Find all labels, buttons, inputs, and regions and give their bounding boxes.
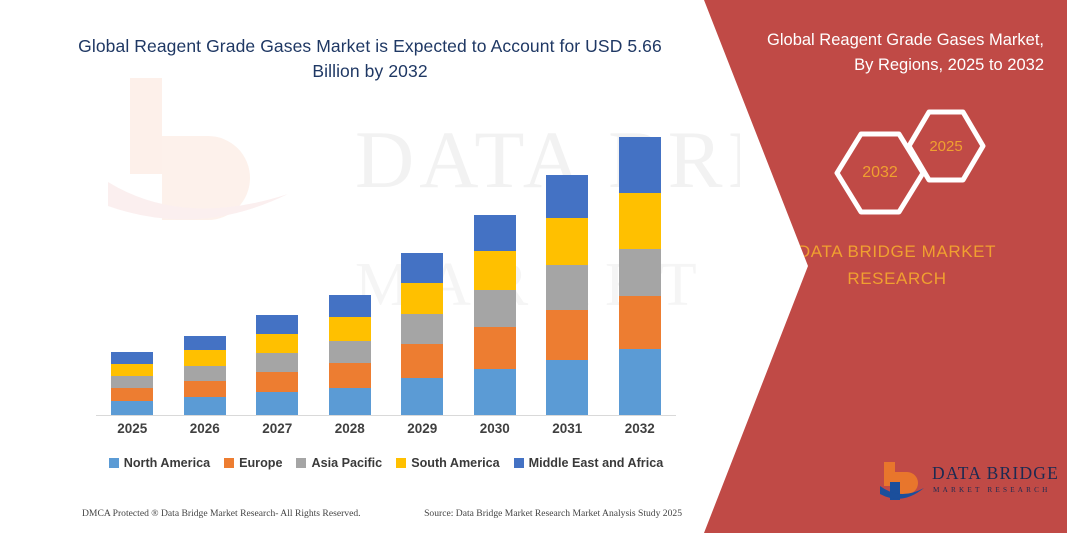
brand-panel-title: Global Reagent Grade Gases Market, By Re… (744, 28, 1044, 78)
year-hexagons: 2025 2032 (820, 108, 1050, 220)
legend-item[interactable]: Middle East and Africa (514, 456, 664, 470)
bar-segment (184, 350, 226, 365)
bar-segment (329, 341, 371, 363)
bar-segment (256, 315, 298, 333)
hexagon-start-year-label: 2025 (929, 138, 962, 155)
x-axis-tick-2028: 2028 (314, 421, 386, 436)
brand-name: DATA BRIDGE MARKET RESEARCH (752, 238, 1042, 292)
company-logo-name: DATA BRIDGE (932, 464, 1059, 482)
hexagon-badge-end-year: 2032 (832, 130, 928, 216)
infographic-root: DATA BRIDGE MARKET RESEARCH Global Reage… (0, 0, 1067, 533)
legend-item[interactable]: Europe (224, 456, 282, 470)
brand-panel-title-line-1: Global Reagent Grade Gases Market, (744, 28, 1044, 53)
x-axis-tick-2030: 2030 (459, 421, 531, 436)
legend-item[interactable]: South America (396, 456, 499, 470)
bar-segment (546, 218, 588, 264)
legend-swatch-icon (296, 458, 306, 468)
bar-segment (401, 283, 443, 314)
x-axis-labels: 20252026202720282029203020312032 (96, 421, 676, 445)
bar-segment (546, 265, 588, 310)
bar-segment (111, 388, 153, 401)
x-axis-tick-2025: 2025 (96, 421, 168, 436)
bar-segment (474, 369, 516, 416)
legend-swatch-icon (514, 458, 524, 468)
bar-segment (401, 378, 443, 416)
legend-item[interactable]: North America (109, 456, 210, 470)
brand-name-line-2: RESEARCH (752, 265, 1042, 292)
company-logo: DATA BRIDGE MARKET RESEARCH (880, 458, 1060, 506)
bar-segment (184, 366, 226, 381)
bar-segment (329, 295, 371, 317)
bar-segment (619, 137, 661, 193)
bar-column-2025 (111, 352, 153, 416)
bar-column-2030 (474, 215, 516, 416)
legend-item[interactable]: Asia Pacific (296, 456, 382, 470)
bar-column-2032 (619, 137, 661, 416)
bar-segment (474, 327, 516, 369)
bar-segment (111, 352, 153, 364)
bar-column-2031 (546, 175, 588, 416)
bar-segment (329, 388, 371, 416)
company-logo-tagline: MARKET RESEARCH (933, 486, 1051, 494)
legend-label: Europe (239, 456, 282, 470)
bar-segment (619, 349, 661, 416)
bar-segment (619, 249, 661, 296)
x-axis-tick-2029: 2029 (386, 421, 458, 436)
bar-segment (256, 392, 298, 416)
bar-segment (401, 253, 443, 283)
chart-baseline (96, 415, 676, 416)
bar-segment (474, 251, 516, 289)
bar-segment (401, 314, 443, 344)
bar-segment (111, 376, 153, 388)
bar-segment (329, 317, 371, 340)
bar-segment (546, 175, 588, 219)
bar-segment (184, 397, 226, 416)
bar-segment (184, 336, 226, 351)
bar-segment (256, 353, 298, 372)
data-bridge-logo-icon (880, 460, 924, 502)
bar-segment (474, 290, 516, 327)
bar-segment (546, 310, 588, 360)
bar-segment (256, 372, 298, 393)
bar-column-2028 (329, 295, 371, 416)
legend-label: North America (124, 456, 210, 470)
x-axis-tick-2026: 2026 (169, 421, 241, 436)
x-axis-tick-2027: 2027 (241, 421, 313, 436)
chart-legend: North AmericaEuropeAsia PacificSouth Ame… (96, 456, 676, 470)
x-axis-tick-2032: 2032 (604, 421, 676, 436)
bar-segment (619, 296, 661, 349)
bar-column-2027 (256, 315, 298, 416)
bar-segment (256, 334, 298, 353)
chart-panel: DATA BRIDGE MARKET RESEARCH Global Reage… (0, 0, 740, 533)
bar-column-2029 (401, 253, 443, 416)
brand-name-line-1: DATA BRIDGE MARKET (752, 238, 1042, 265)
footer-copyright: DMCA Protected ® Data Bridge Market Rese… (82, 508, 361, 519)
legend-label: South America (411, 456, 499, 470)
footer-source: Source: Data Bridge Market Research Mark… (424, 508, 682, 519)
hexagon-end-year-label: 2032 (862, 164, 898, 182)
footer: DMCA Protected ® Data Bridge Market Rese… (82, 508, 682, 519)
bar-segment (111, 401, 153, 416)
legend-swatch-icon (109, 458, 119, 468)
bar-segment (619, 193, 661, 249)
brand-panel-title-line-2: By Regions, 2025 to 2032 (744, 53, 1044, 78)
bar-segment (401, 344, 443, 378)
bar-segment (546, 360, 588, 416)
legend-label: Asia Pacific (311, 456, 382, 470)
chart-title: Global Reagent Grade Gases Market is Exp… (60, 34, 680, 85)
legend-swatch-icon (224, 458, 234, 468)
bar-segment (329, 363, 371, 388)
bar-segment (111, 364, 153, 376)
chart-plot-area (96, 120, 676, 416)
legend-swatch-icon (396, 458, 406, 468)
x-axis-tick-2031: 2031 (531, 421, 603, 436)
legend-label: Middle East and Africa (529, 456, 664, 470)
bar-segment (474, 215, 516, 251)
bar-segment (184, 381, 226, 398)
bar-column-2026 (184, 336, 226, 416)
